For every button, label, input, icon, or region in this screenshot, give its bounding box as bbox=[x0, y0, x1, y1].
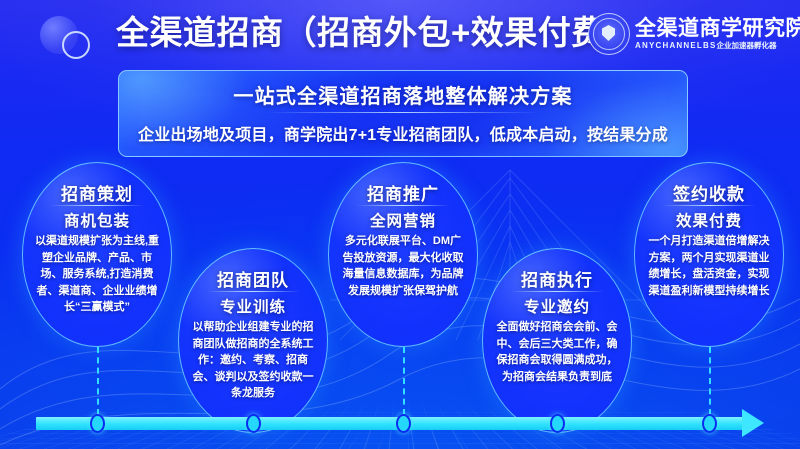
step-divider-2 bbox=[206, 291, 301, 292]
step-bubble-5[interactable]: 签约收款 效果付费 一个月打造渠道倍增解决方案，两个月实现渠道业绩增长，盘活资金… bbox=[634, 162, 784, 347]
step-title-1: 招商策划 bbox=[23, 180, 171, 205]
banner-headline: 一站式全渠道招商落地整体解决方案 bbox=[119, 80, 687, 109]
step-subtitle-2: 专业训练 bbox=[179, 295, 327, 317]
step-subtitle-4: 专业邀约 bbox=[483, 295, 631, 317]
step-bubble-3[interactable]: 招商推广 全网营销 多元化联展平台、DM广告投放资源，最大化收取海量信息数据库，… bbox=[328, 162, 478, 347]
timeline-dot-icon[interactable] bbox=[90, 414, 105, 433]
step-body-3: 多元化联展平台、DM广告投放资源，最大化收取海量信息数据库，为品牌发展规模扩张保… bbox=[341, 233, 465, 299]
step-subtitle-3: 全网营销 bbox=[329, 209, 477, 231]
step-bubble-1[interactable]: 招商策划 商机包装 以渠道规模扩张为主线,重塑企业品牌、产品、市场、服务系统,打… bbox=[22, 162, 172, 347]
brand-seal-icon bbox=[588, 13, 630, 55]
brand-text: 全渠道商学研究院 ANYCHANNELBS企业加速器孵化器 bbox=[635, 17, 800, 51]
brand-name-en: ANYCHANNELBS企业加速器孵化器 bbox=[635, 40, 800, 51]
step-title-4: 招商执行 bbox=[483, 266, 631, 291]
timeline-dot-icon[interactable] bbox=[550, 414, 565, 433]
brand-name-cn: 全渠道商学研究院 bbox=[635, 17, 800, 40]
step-title-2: 招商团队 bbox=[179, 266, 327, 291]
step-divider-5 bbox=[662, 205, 757, 206]
brand-name-en-main: ANYCHANNELBS bbox=[635, 41, 717, 50]
banner-divider bbox=[267, 112, 539, 113]
step-subtitle-1: 商机包装 bbox=[23, 209, 171, 231]
step-divider-3 bbox=[356, 205, 451, 206]
timeline-bar bbox=[36, 417, 746, 430]
step-body-4: 全面做好招商会会前、会中、会后三大类工作，确保招商会取得圆满成功，为招商会结果负… bbox=[495, 319, 619, 385]
step-divider-4 bbox=[510, 291, 605, 292]
solution-banner: 一站式全渠道招商落地整体解决方案 企业出场地及项目，商学院出7+1专业招商团队，… bbox=[118, 70, 688, 157]
connector-line-5 bbox=[709, 347, 711, 415]
header: 全渠道招商（招商外包+效果付费） 全渠道商学研究院 ANYCHANNELBS企业… bbox=[0, 0, 800, 66]
slide-canvas: 全渠道招商（招商外包+效果付费） 全渠道商学研究院 ANYCHANNELBS企业… bbox=[0, 0, 800, 449]
connector-line-3 bbox=[403, 347, 405, 415]
step-bubble-4[interactable]: 招商执行 专业邀约 全面做好招商会会前、会中、会后三大类工作，确保招商会取得圆满… bbox=[482, 248, 632, 433]
step-title-3: 招商推广 bbox=[329, 180, 477, 205]
step-body-5: 一个月打造渠道倍增解决方案，两个月实现渠道业绩增长，盘活资金，实现渠道盈利新模型… bbox=[647, 233, 771, 299]
step-subtitle-5: 效果付费 bbox=[635, 209, 783, 231]
step-body-2: 以帮助企业组建专业的招商团队做招商的全系统工作：邀约、考察、招商会、谈判以及签约… bbox=[191, 319, 315, 402]
step-bubble-2[interactable]: 招商团队 专业训练 以帮助企业组建专业的招商团队做招商的全系统工作：邀约、考察、… bbox=[178, 248, 328, 433]
brand-lockup: 全渠道商学研究院 ANYCHANNELBS企业加速器孵化器 bbox=[588, 10, 800, 58]
step-body-1: 以渠道规模扩张为主线,重塑企业品牌、产品、市场、服务系统,打造消费者、渠道商、企… bbox=[35, 233, 159, 316]
ring-circle-icon bbox=[62, 31, 90, 59]
step-divider-1 bbox=[50, 205, 145, 206]
timeline-dot-icon[interactable] bbox=[702, 414, 717, 433]
timeline-dot-icon[interactable] bbox=[396, 414, 411, 433]
banner-subline: 企业出场地及项目，商学院出7+1专业招商团队，低成本启动，按结果分成 bbox=[119, 121, 687, 145]
step-title-5: 签约收款 bbox=[635, 180, 783, 205]
arrow-right-icon bbox=[742, 409, 764, 437]
page-title: 全渠道招商（招商外包+效果付费） bbox=[116, 7, 586, 59]
connector-line-1 bbox=[97, 347, 99, 415]
brand-name-en-suffix: 企业加速器孵化器 bbox=[717, 41, 777, 50]
timeline-dot-icon[interactable] bbox=[246, 414, 261, 433]
